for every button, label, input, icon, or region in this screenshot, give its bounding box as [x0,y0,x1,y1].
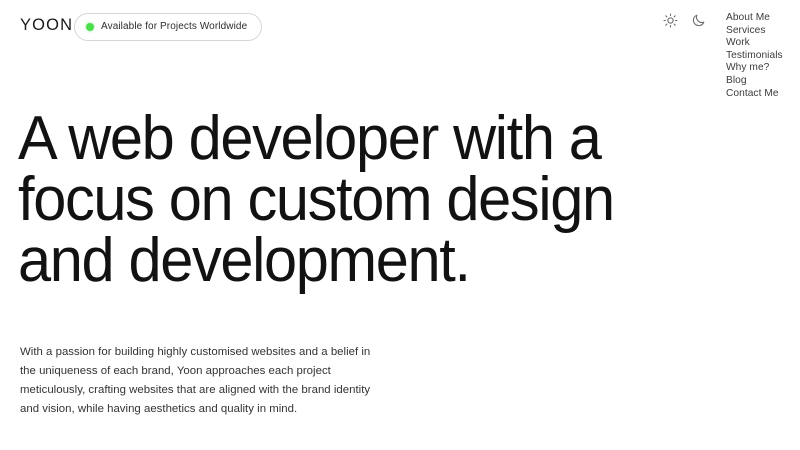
hero-headline-line-3: and development. [18,230,728,291]
hero-headline-line-2: focus on custom design [18,169,728,230]
brand-logo[interactable]: YOON [20,17,73,34]
nav-item-testimonials[interactable]: Testimonials [726,50,783,63]
nav-item-contact-me[interactable]: Contact Me [726,88,779,101]
moon-icon [691,13,706,28]
nav-item-about-me[interactable]: About Me [726,12,770,25]
hero-headline-line-1: A web developer with a [18,108,728,169]
light-mode-button[interactable] [662,12,678,28]
sun-icon [663,13,678,28]
nav-item-blog[interactable]: Blog [726,75,747,88]
hero-description: With a passion for building highly custo… [20,343,388,419]
hero-headline: A web developer with a focus on custom d… [18,108,728,291]
status-dot-icon [86,23,94,31]
theme-toggle-group [662,12,706,28]
nav-item-work[interactable]: Work [726,37,750,50]
nav-item-why-me[interactable]: Why me? [726,62,769,75]
main-nav: About Me Services Work Testimonials Why … [726,12,783,100]
site-header: YOON Available for Projects Worldwide [0,0,800,110]
availability-badge-label: Available for Projects Worldwide [101,22,247,32]
availability-badge: Available for Projects Worldwide [74,13,262,41]
nav-item-services[interactable]: Services [726,25,765,38]
dark-mode-button[interactable] [690,12,706,28]
